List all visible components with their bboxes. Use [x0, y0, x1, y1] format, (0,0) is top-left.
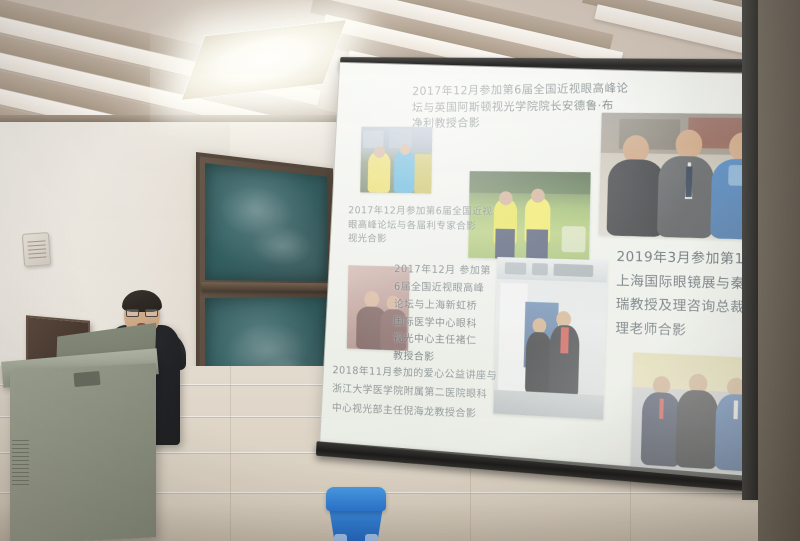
eyeglasses-icon: [126, 309, 158, 317]
caption-left-upper: 2017年12月参加第6届全国近视 眼高峰论坛与各届利专家合影 视光合影: [348, 204, 499, 248]
chalkboard-panel-top: [205, 163, 327, 281]
stool-seat: [326, 487, 386, 511]
screen-surface: 2017年12月参加第6届全国近视眼高峰论 坛与英国阿斯顿视光学院院长安德鲁·布…: [320, 63, 800, 485]
stool-body: [329, 507, 383, 541]
blue-plastic-stool[interactable]: [326, 487, 386, 541]
photo-exhibition-booth: [493, 257, 607, 420]
lectern-notch: [73, 371, 100, 387]
right-wall: [758, 0, 800, 541]
photo-yellow-jackets: [360, 127, 432, 194]
wall-mounted-speaker: [22, 232, 51, 267]
chalkboard-ledge-middle: [201, 282, 330, 291]
caption-left-middle: 2017年12月 参加第 6届全国近视眼高峰 论坛与上海新虹桥 国际医学中心眼科…: [393, 261, 493, 369]
projection-screen: 2017年12月参加第6届全国近视眼高峰论 坛与英国阿斯顿视光学院院长安德鲁·布…: [316, 36, 800, 496]
lecture-hall-scene: 2017年12月参加第6届全国近视眼高峰论 坛与英国阿斯顿视光学院院长安德鲁·布…: [0, 0, 800, 541]
caption-left-lower: 2018年11月参加的爱心公益讲座与 浙江大学医学院附属第二医院眼科 中心视光部…: [332, 362, 502, 426]
photo-collage-slide: 2017年12月参加第6届全国近视眼高峰论 坛与英国阿斯顿视光学院院长安德鲁·布…: [320, 63, 800, 485]
lectern-vent: [12, 440, 29, 492]
lectern: [10, 363, 156, 541]
